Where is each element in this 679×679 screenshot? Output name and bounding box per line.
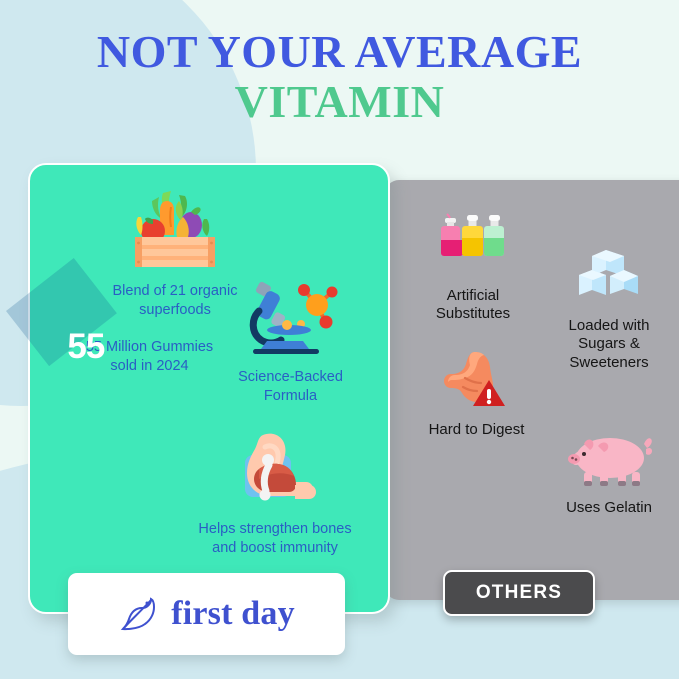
- others-feature-caption: Hard to Digest: [429, 421, 525, 438]
- others-feature-caption: Loaded with Sugars & Sweeteners: [569, 317, 650, 371]
- brand-logo-text: first day: [171, 595, 295, 633]
- others-badge: OTHERS: [443, 570, 595, 616]
- flexing-arm-bone-icon: [170, 427, 380, 516]
- brand-feature-caption: Helps strengthen bones and boost immunit…: [198, 521, 351, 556]
- page-title: NOT YOUR AVERAGE VITAMIN: [0, 28, 679, 126]
- stomach-warning-icon: [389, 348, 564, 417]
- brand-logo-card: first day: [68, 573, 345, 655]
- sugar-cubes-icon: [525, 246, 679, 313]
- infographic-canvas: NOT YOUR AVERAGE VITAMIN: [0, 0, 679, 679]
- others-feature-caption: Artificial Substitutes: [436, 287, 510, 322]
- others-feature-hard-to-digest: Hard to Digest: [389, 348, 564, 439]
- vegetable-crate-icon: [60, 187, 290, 278]
- others-feature-uses-gelatin: Uses Gelatin: [525, 428, 679, 517]
- others-comparison-panel: Artificial Substitutes: [385, 180, 679, 600]
- others-badge-label: OTHERS: [476, 582, 562, 604]
- others-feature-caption: Uses Gelatin: [566, 499, 652, 516]
- pig-icon: [525, 428, 679, 495]
- brand-comparison-panel: Blend of 21 organic superfoods: [28, 163, 390, 614]
- brand-feature-caption: 55 Million Gummies sold in 2024: [86, 339, 213, 374]
- brand-feature-gummies-sold: 55 55 Million Gummies sold in 2024: [42, 338, 257, 375]
- brand-feature-bones-immunity: Helps strengthen bones and boost immunit…: [170, 427, 380, 557]
- headline-line-1: NOT YOUR AVERAGE: [0, 28, 679, 76]
- bird-logo-icon: [118, 591, 162, 638]
- headline-line-2: VITAMIN: [0, 78, 679, 126]
